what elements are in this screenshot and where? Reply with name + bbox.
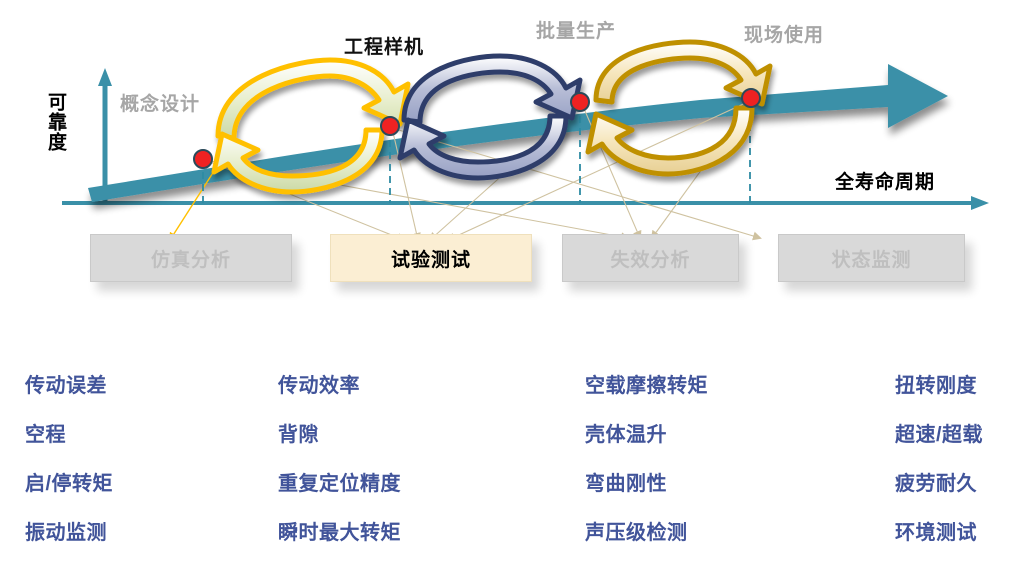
metric-item: 传动效率 [278,369,360,398]
activity-box-simulation[interactable]: 仿真分析 [90,234,292,282]
activity-box-row: 仿真分析 试验测试 失效分析 状态监测 [0,234,1013,294]
milestone-marker-3 [571,93,589,111]
metric-item: 空载摩擦转矩 [585,369,708,398]
metric-item: 超速/超载 [895,418,983,447]
metric-item: 壳体温升 [585,418,667,447]
milestone-marker-4 [742,89,760,107]
activity-box-failure-analysis[interactable]: 失效分析 [562,234,739,282]
activity-box-label: 失效分析 [610,245,690,272]
metric-item: 疲劳耐久 [895,467,977,496]
stage-label-mass-production: 批量生产 [536,16,616,43]
metric-item: 启/停转矩 [25,467,113,496]
metric-item: 传动误差 [25,369,107,398]
stage-label-engineering-prototype: 工程样机 [344,32,424,59]
metric-item: 声压级检测 [585,516,688,545]
activity-box-label: 仿真分析 [151,245,231,272]
metric-grid: 传动误差 空程 启/停转矩 振动监测 传动效率 背隙 重复定位精度 瞬时最大转矩… [0,352,1013,563]
milestone-marker-1 [194,150,212,168]
activity-box-condition-monitoring[interactable]: 状态监测 [778,234,965,282]
stage-label-field-use: 现场使用 [744,20,824,47]
metric-item: 弯曲刚性 [585,467,667,496]
cycle-loop-yellow [214,60,408,192]
activity-box-testing[interactable]: 试验测试 [330,234,532,282]
metric-item: 瞬时最大转矩 [278,516,401,545]
x-axis-arrowhead [971,196,989,210]
metric-item: 重复定位精度 [278,467,401,496]
metric-item: 振动监测 [25,516,107,545]
metric-item: 背隙 [278,418,319,447]
diagram-canvas: 可靠度 全寿命周期 概念设计 工程样机 批量生产 现场使用 仿真分析 试验测试 … [0,0,1013,563]
y-axis-label: 可靠度 [46,92,65,152]
milestone-marker-2 [381,117,399,135]
activity-box-label: 试验测试 [391,245,471,272]
metric-item: 扭转刚度 [895,369,977,398]
lifecycle-diagram: 可靠度 全寿命周期 概念设计 工程样机 批量生产 现场使用 仿真分析 试验测试 … [0,0,1013,320]
y-axis-arrowhead [98,68,112,86]
metric-item: 环境测试 [895,516,977,545]
cycle-loop-navy [400,56,580,178]
stage-label-concept-design: 概念设计 [120,89,200,116]
x-axis-label: 全寿命周期 [835,167,935,194]
activity-box-label: 状态监测 [831,245,911,272]
metric-item: 空程 [25,418,66,447]
